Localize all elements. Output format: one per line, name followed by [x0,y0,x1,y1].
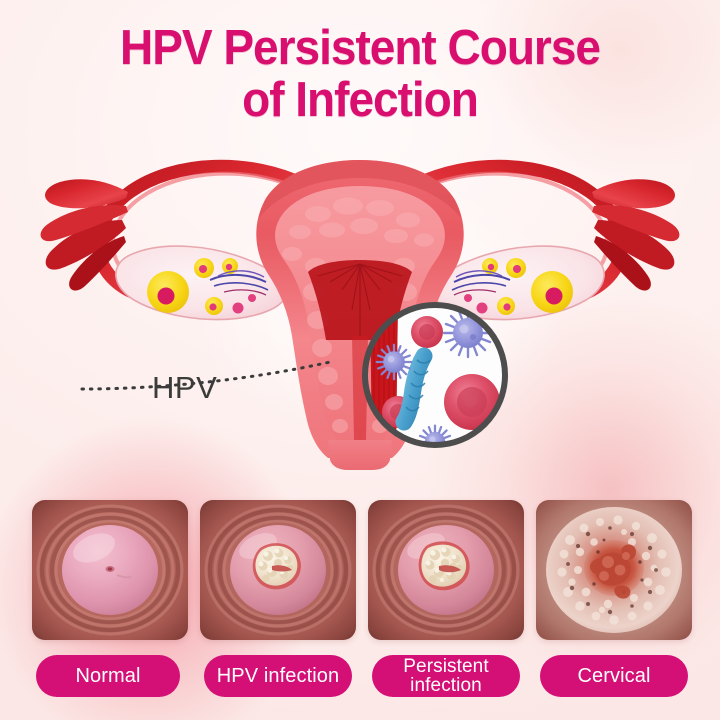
stage-label-cervical-text: Cervical [577,666,650,686]
title-line-2: of Infection [22,74,699,126]
stage-label-hpv-infection[interactable]: HPV infection [204,655,352,697]
stage-image-row [0,500,720,640]
stage-label-row: Normal HPV infection Persistent infectio… [0,655,720,701]
uterus-illustration [0,140,720,470]
stage-label-persistent-infection-line2: infection [403,676,488,695]
stage-label-hpv-infection-text: HPV infection [217,666,339,686]
infographic-poster: HPV Persistent Course of Infection [0,0,720,720]
stage-label-normal[interactable]: Normal [36,655,180,697]
stage-image-persistent-infection[interactable] [368,500,524,640]
stage-label-normal-text: Normal [75,666,140,686]
stage-image-cervical[interactable] [536,500,692,640]
hpv-callout-label: HPV [152,371,217,405]
page-title: HPV Persistent Course of Infection [0,22,720,126]
stage-label-cervical[interactable]: Cervical [540,655,688,697]
stage-image-hpv-infection[interactable] [200,500,356,640]
title-line-1: HPV Persistent Course [22,22,699,74]
stage-image-normal[interactable] [32,500,188,640]
stage-label-persistent-infection[interactable]: Persistent infection [372,655,520,697]
stage-label-persistent-infection-line1: Persistent [403,657,488,676]
